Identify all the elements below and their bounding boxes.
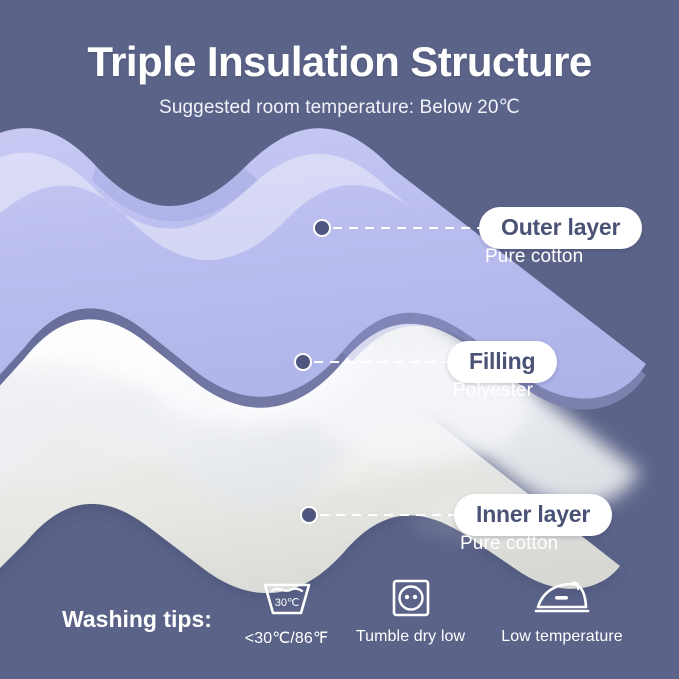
callout-pill-inner-layer: Inner layer xyxy=(454,494,612,536)
washing-tip-caption-tumble-dry: Tumble dry low xyxy=(338,628,483,646)
callout-leader-line-inner-layer xyxy=(320,514,462,516)
callout-pill-outer-layer: Outer layer xyxy=(479,207,642,249)
washing-tip-caption-iron: Low temperature xyxy=(482,628,642,646)
washing-tips-label: Washing tips: xyxy=(62,606,212,633)
callout-sub-inner-layer: Pure cotton xyxy=(460,533,558,555)
callout-dot-filling xyxy=(294,353,312,371)
callout-sub-filling: Polyester xyxy=(453,380,533,402)
callout-dot-outer-layer xyxy=(313,219,331,237)
washing-tip-tumble-dry: Tumble dry low xyxy=(338,575,483,646)
callout-sub-outer-layer: Pure cotton xyxy=(485,246,583,268)
iron-icon xyxy=(482,575,642,621)
callout-dot-inner-layer xyxy=(300,506,318,524)
washing-tip-iron: Low temperature xyxy=(482,575,642,646)
callout-pill-filling: Filling xyxy=(447,341,557,383)
wash-basin-temperature-text: 30℃ xyxy=(274,597,299,609)
tumble-dry-icon xyxy=(338,575,483,621)
callout-leader-line-filling xyxy=(314,361,453,363)
washing-tips-section: Washing tips: 30℃ <30℃/86℉ xyxy=(0,573,679,665)
infographic-poster: Triple Insulation Structure Suggested ro… xyxy=(0,0,679,679)
callout-leader-line-outer-layer xyxy=(333,227,487,229)
